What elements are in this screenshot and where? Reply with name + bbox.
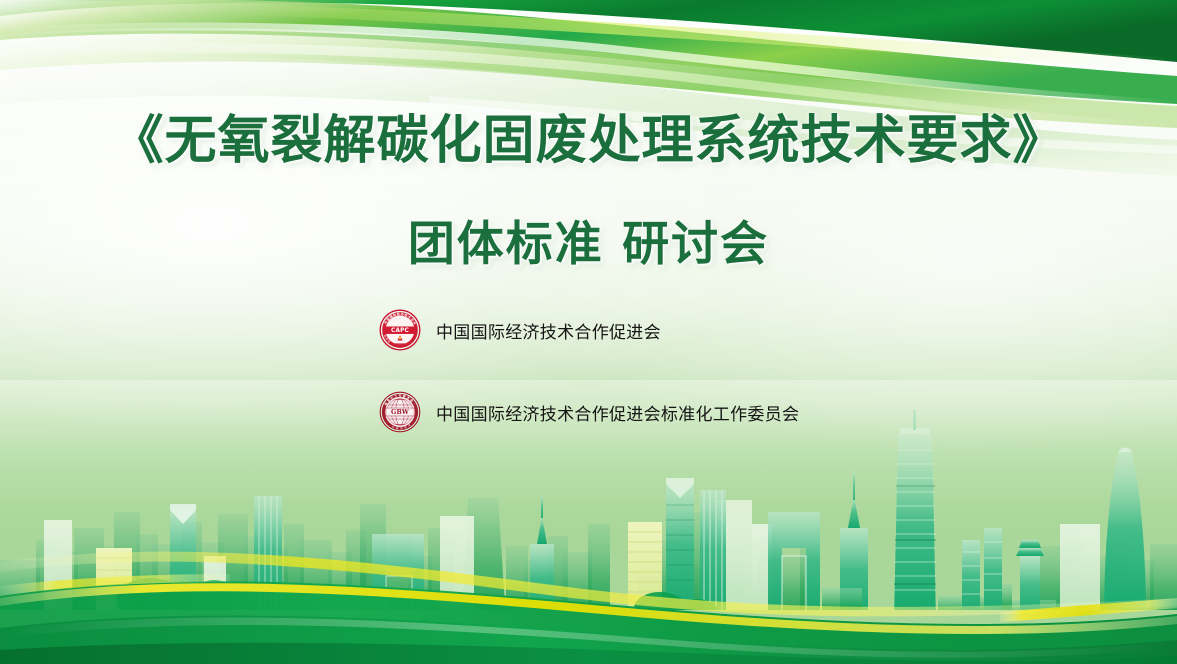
svg-text:作: 作 bbox=[399, 393, 402, 398]
slide-subtitle-block: 团体标准 研讨会 bbox=[0, 205, 1177, 274]
slide-title-block: 《无氧裂解碳化固废处理系统技术要求》 bbox=[0, 112, 1177, 172]
capc-round-seal-icon: 中 国 国 际 经 济 技 术 合 作 促 进 会 bbox=[378, 308, 422, 352]
gbw-round-seal-icon: 标 准 化 工 作 委 员 会 · 中 国 促 进 bbox=[378, 390, 422, 434]
page-title: 《无氧裂解碳化固废处理系统技术要求》 bbox=[0, 112, 1177, 172]
list-item-label: 中国国际经济技术合作促进会标准化工作委员会 bbox=[436, 400, 799, 425]
page-subtitle: 团体标准 研讨会 bbox=[0, 205, 1177, 274]
list-item-label: 中国国际经济技术合作促进会 bbox=[436, 318, 661, 343]
svg-text:CAPC: CAPC bbox=[391, 328, 409, 334]
presentation-slide: 《无氧裂解碳化固废处理系统技术要求》 团体标准 研讨会 bbox=[0, 0, 1177, 664]
svg-text:GBW: GBW bbox=[391, 409, 409, 416]
organization-list: 中 国 国 际 经 济 技 术 合 作 促 进 会 bbox=[378, 307, 799, 435]
list-item: 标 准 化 工 作 委 员 会 · 中 国 促 进 bbox=[378, 389, 799, 435]
list-item: 中 国 国 际 经 济 技 术 合 作 促 进 会 bbox=[378, 307, 799, 353]
